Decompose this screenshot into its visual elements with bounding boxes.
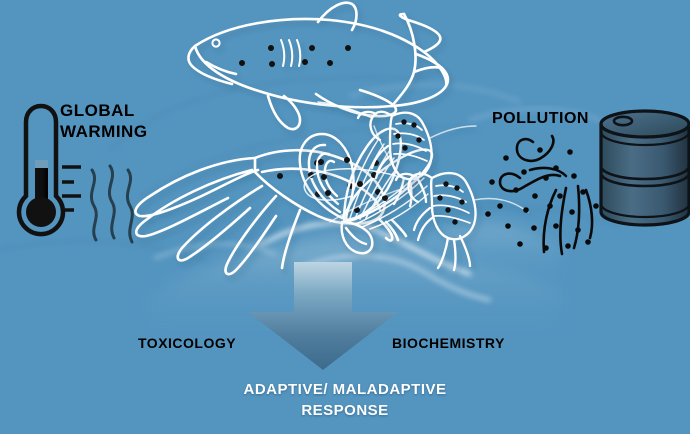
- biochemistry-label: BIOCHEMISTRY: [392, 335, 505, 351]
- pollution-swirls-icon: [500, 136, 592, 254]
- adaptive-maladaptive-response-label: ADAPTIVE/ MALADAPTIVE RESPONSE: [0, 379, 690, 421]
- figure-canvas: GLOBAL WARMING POLLUTION TOXICOLOGY BIOC…: [0, 0, 690, 434]
- toxicology-label: TOXICOLOGY: [138, 335, 236, 351]
- pollution-particles: [485, 147, 599, 251]
- pollution-icons: [0, 0, 690, 434]
- pollution-label: POLLUTION: [492, 110, 589, 128]
- oil-barrel-icon: [601, 111, 689, 225]
- global-warming-label: GLOBAL WARMING: [60, 100, 148, 142]
